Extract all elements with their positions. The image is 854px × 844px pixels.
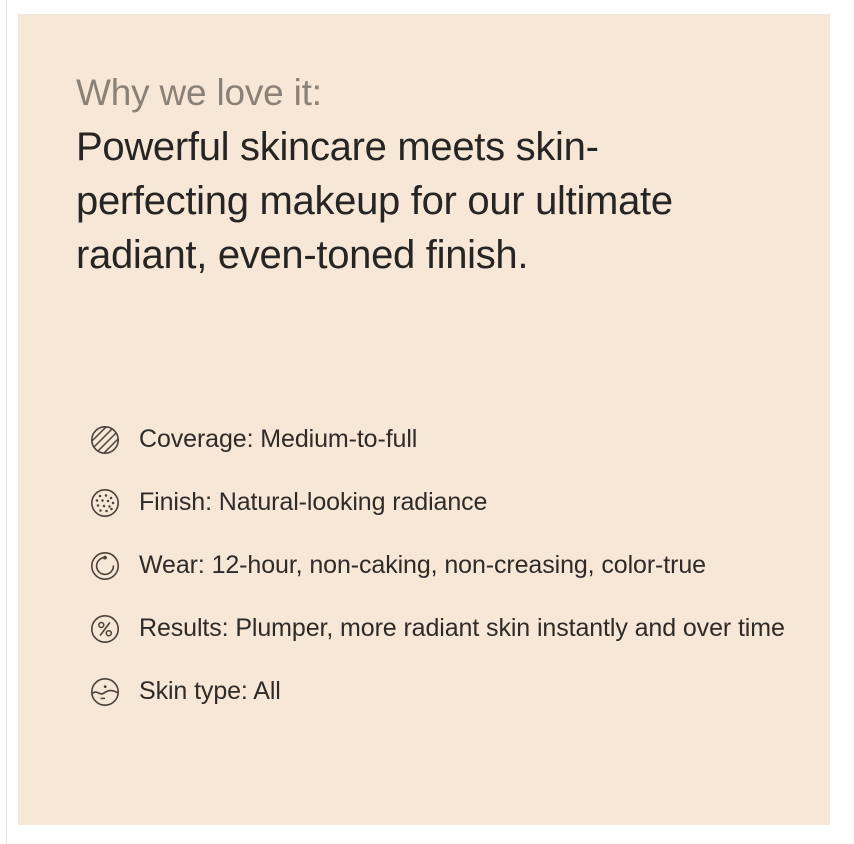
card-heading-block: Why we love it: Powerful skincare meets … [76, 70, 790, 282]
list-item: Results: Plumper, more radiant skin inst… [88, 611, 790, 646]
list-item-text: Skin type: All [139, 674, 281, 708]
attribute-list: Coverage: Medium-to-full [88, 422, 790, 709]
eyebrow-label: Why we love it: [76, 70, 790, 116]
list-item-text: Wear: 12-hour, non-caking, non-creasing,… [139, 548, 706, 582]
list-item-text: Coverage: Medium-to-full [139, 422, 417, 456]
hatched-circle-icon [88, 423, 122, 457]
product-highlights-card: Why we love it: Powerful skincare meets … [18, 14, 830, 825]
timer-circle-icon [88, 549, 122, 583]
headline-text: Powerful skincare meets skin-perfecting … [76, 120, 766, 282]
wave-circle-icon [88, 675, 122, 709]
percent-circle-icon [88, 612, 122, 646]
list-item: Wear: 12-hour, non-caking, non-creasing,… [88, 548, 790, 583]
page-left-rule [6, 0, 7, 844]
list-item-text: Finish: Natural-looking radiance [139, 485, 487, 519]
list-item: Skin type: All [88, 674, 790, 709]
list-item-text: Results: Plumper, more radiant skin inst… [139, 611, 785, 645]
dotted-circle-icon [88, 486, 122, 520]
list-item: Finish: Natural-looking radiance [88, 485, 790, 520]
list-item: Coverage: Medium-to-full [88, 422, 790, 457]
